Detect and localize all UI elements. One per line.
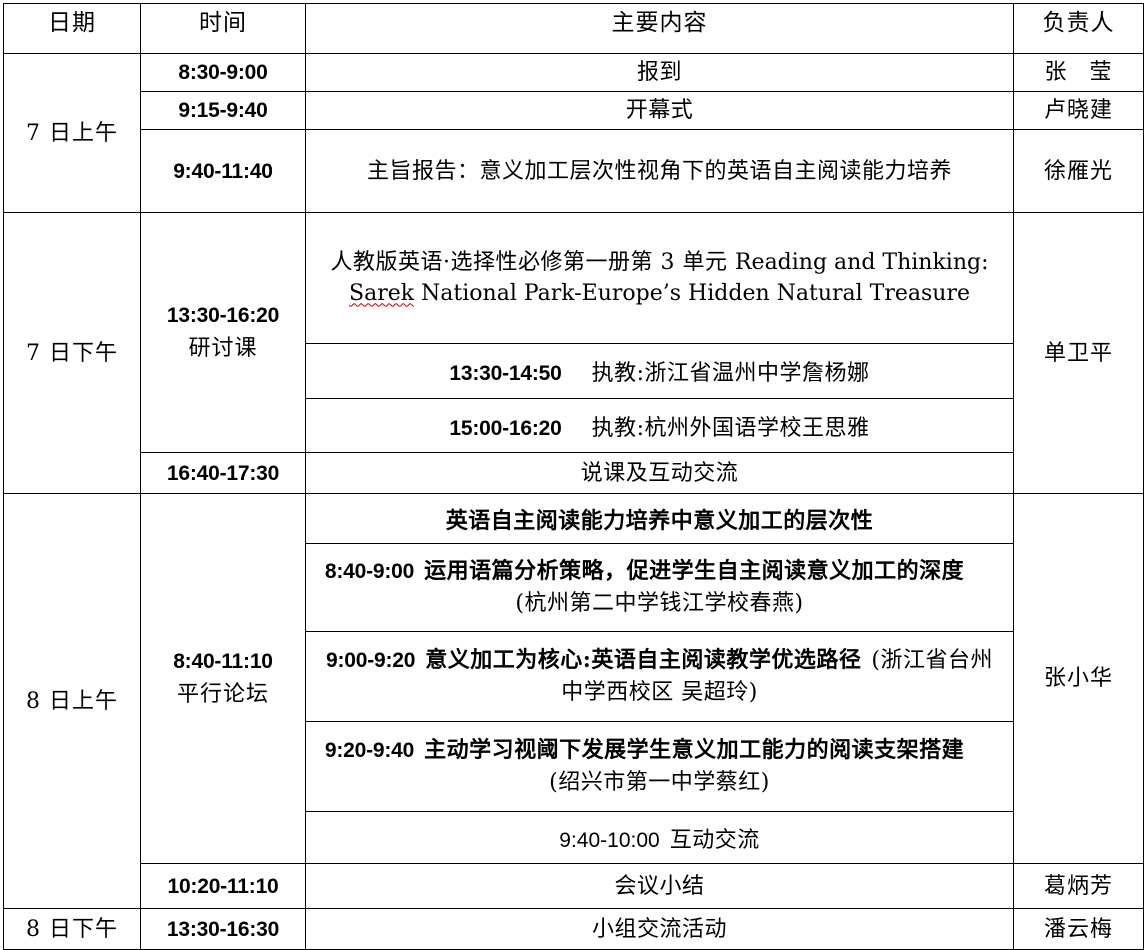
workshop-sub-table: 人教版英语·选择性必修第一册第 3 单元 Reading and Thinkin… (306, 213, 1013, 452)
forum-discussion-cell: 9:40-10:00互动交流 (306, 812, 1013, 864)
owner-cell-zhangying: 张莹 (1014, 54, 1144, 92)
talk2-time: 9:00-9:20 (326, 649, 415, 672)
workshop-title-en-part1: Reading and Thinking: (735, 250, 989, 275)
forum-talk-3: 9:20-9:40主动学习视阈下发展学生意义加工能力的阅读支架搭建(绍兴市第一中… (320, 735, 999, 799)
time-cell-0940: 9:40-11:40 (141, 130, 306, 213)
content-cell-group-activity: 小组交流活动 (306, 909, 1014, 950)
time-cell-1020: 10:20-11:10 (141, 864, 306, 909)
lesson1-text: 执教:浙江省温州中学詹杨娜 (592, 361, 870, 386)
owner-label: 葛炳芳 (1014, 868, 1143, 905)
table-row: 8 日上午 8:40-11:10 平行论坛 英语自主阅读能力培养中意义加工的层次… (4, 494, 1144, 864)
session-date-8pm: 8 日下午 (4, 909, 141, 950)
talk3-title: 主动学习视阈下发展学生意义加工能力的阅读支架搭建 (424, 737, 964, 763)
list-item: 9:20-9:40主动学习视阈下发展学生意义加工能力的阅读支架搭建(绍兴市第一中… (306, 722, 1013, 812)
content-cell-workshop: 人教版英语·选择性必修第一册第 3 单元 Reading and Thinkin… (306, 213, 1014, 453)
lesson2-time: 15:00-16:20 (449, 417, 561, 440)
spellcheck-error-sarek: Sarek (349, 281, 414, 306)
time-cell-0915: 9:15-9:40 (141, 92, 306, 130)
header-label-owner: 负责人 (1014, 4, 1143, 53)
owner-label: 单卫平 (1014, 335, 1143, 372)
list-item: 15:00-16:20执教:杭州外国语学校王思雅 (306, 399, 1013, 453)
workshop-title-en-part2: National Park-Europe’s Hidden Natural Tr… (414, 281, 970, 306)
time-label: 13:30-16:30 (141, 912, 305, 948)
content-cell-keynote: 主旨报告：意义加工层次性视角下的英语自主阅读能力培养 (306, 130, 1014, 213)
table-row: 16:40-17:30 说课及互动交流 (4, 453, 1144, 494)
table-row: 8 日下午 13:30-16:30 小组交流活动 潘云梅 (4, 909, 1144, 950)
workshop-title-cn: 人教版英语·选择性必修第一册第 3 单元 (331, 250, 735, 275)
time-cell-1640: 16:40-17:30 (141, 453, 306, 494)
time-label: 16:40-17:30 (141, 456, 305, 492)
talk2-title: 意义加工为核心:英语自主阅读教学优选路径 (425, 647, 861, 673)
owner-label: 徐雁光 (1014, 153, 1143, 190)
list-item: 人教版英语·选择性必修第一册第 3 单元 Reading and Thinkin… (306, 213, 1013, 344)
session-date-label: 7 日上午 (4, 115, 140, 152)
owner-label: 卢晓建 (1014, 92, 1143, 129)
time-range: 13:30-16:20 (167, 304, 279, 327)
talk3-affiliation: (绍兴市第一中学蔡红) (549, 770, 770, 795)
forum-talk-2-cell: 9:00-9:20意义加工为核心:英语自主阅读教学优选路径(浙江省台州中学西校区… (306, 632, 1013, 722)
content-label: 开幕式 (306, 92, 1013, 129)
header-cell-time: 时间 (141, 4, 306, 54)
owner-surname: 张 (1044, 60, 1067, 85)
content-label: 小组交流活动 (306, 911, 1013, 948)
list-item: 9:40-10:00互动交流 (306, 812, 1013, 864)
table-row: 7 日上午 8:30-9:00 报到 张莹 (4, 54, 1144, 92)
list-item: 9:00-9:20意义加工为核心:英语自主阅读教学优选路径(浙江省台州中学西校区… (306, 632, 1013, 722)
table-row: 9:40-11:40 主旨报告：意义加工层次性视角下的英语自主阅读能力培养 徐雁… (4, 130, 1144, 213)
list-item: 13:30-14:50执教:浙江省温州中学詹杨娜 (306, 344, 1013, 399)
talk1-time: 8:40-9:00 (325, 560, 414, 583)
owner-cell-zhangxiaohua: 张小华 (1014, 494, 1144, 864)
content-label: 会议小结 (306, 868, 1013, 905)
forum-talk-3-cell: 9:20-9:40主动学习视阈下发展学生意义加工能力的阅读支架搭建(绍兴市第一中… (306, 722, 1013, 812)
content-label: 报到 (306, 54, 1013, 91)
table-row: 10:20-11:10 会议小结 葛炳芳 (4, 864, 1144, 909)
table-header-row: 日期 时间 主要内容 负责人 (4, 4, 1144, 54)
content-label: 说课及互动交流 (306, 455, 1013, 492)
time-label: 9:15-9:40 (141, 93, 305, 129)
owner-cell-danweiping: 单卫平 (1014, 213, 1144, 494)
header-cell-content: 主要内容 (306, 4, 1014, 54)
time-label: 9:40-11:40 (141, 154, 305, 190)
time-subtitle: 平行论坛 (145, 679, 301, 710)
content-cell-summary: 会议小结 (306, 864, 1014, 909)
schedule-document: 日期 时间 主要内容 负责人 7 日上午 8:30-9:00 (0, 0, 1147, 907)
time-label: 13:30-16:20 研讨课 (141, 298, 305, 367)
header-cell-owner: 负责人 (1014, 4, 1144, 54)
time-cell-0830: 8:30-9:00 (141, 54, 306, 92)
lesson2-text: 执教:杭州外国语学校王思雅 (592, 416, 870, 441)
session-date-7am: 7 日上午 (4, 54, 141, 213)
conference-schedule-table: 日期 时间 主要内容 负责人 7 日上午 8:30-9:00 (3, 3, 1144, 950)
time-cell-1330-1630: 13:30-16:30 (141, 909, 306, 950)
talk1-title: 运用语篇分析策略，促进学生自主阅读意义加工的深度 (424, 558, 964, 584)
content-label: 主旨报告：意义加工层次性视角下的英语自主阅读能力培养 (306, 154, 1013, 190)
session-date-8am: 8 日上午 (4, 494, 141, 909)
time-label: 8:30-9:00 (141, 55, 305, 91)
forum-title: 英语自主阅读能力培养中意义加工的层次性 (446, 508, 874, 534)
content-cell-opening: 开幕式 (306, 92, 1014, 130)
owner-givenname: 莹 (1090, 60, 1113, 85)
workshop-lesson1-cell: 13:30-14:50执教:浙江省温州中学詹杨娜 (306, 344, 1013, 399)
owner-label: 潘云梅 (1014, 911, 1143, 948)
header-label-content: 主要内容 (306, 4, 1013, 53)
lesson1-time: 13:30-14:50 (449, 362, 561, 385)
session-date-label: 7 日下午 (4, 335, 140, 372)
forum-title-cell: 英语自主阅读能力培养中意义加工的层次性 (306, 494, 1013, 544)
owner-cell-gebingfang: 葛炳芳 (1014, 864, 1144, 909)
session-date-label: 8 日下午 (4, 911, 140, 948)
time-cell-0840-1110: 8:40-11:10 平行论坛 (141, 494, 306, 864)
workshop-lesson2-cell: 15:00-16:20执教:杭州外国语学校王思雅 (306, 399, 1013, 453)
time-range: 8:40-11:10 (173, 650, 273, 673)
time-label: 10:20-11:10 (141, 869, 305, 905)
talk1-affiliation: (杭州第二中学钱江学校春燕) (515, 591, 803, 616)
talk3-time: 9:20-9:40 (325, 739, 414, 762)
table-row: 9:15-9:40 开幕式 卢晓建 (4, 92, 1144, 130)
table-row: 7 日下午 13:30-16:20 研讨课 人教版英语·选择性必修第一册第 3 … (4, 213, 1144, 453)
time-label: 8:40-11:10 平行论坛 (141, 644, 305, 713)
session-date-7pm: 7 日下午 (4, 213, 141, 494)
owner-label: 张小华 (1014, 660, 1143, 697)
owner-cell-xuyanguang: 徐雁光 (1014, 130, 1144, 213)
owner-label: 张莹 (1014, 54, 1143, 91)
list-item: 8:40-9:00运用语篇分析策略，促进学生自主阅读意义加工的深度(杭州第二中学… (306, 544, 1013, 632)
forum-talk-1-cell: 8:40-9:00运用语篇分析策略，促进学生自主阅读意义加工的深度(杭州第二中学… (306, 544, 1013, 632)
owner-cell-luxiaojian: 卢晓建 (1014, 92, 1144, 130)
header-label-date: 日期 (4, 4, 140, 53)
discussion-time: 9:40-10:00 (559, 829, 659, 852)
owner-cell-panyunmei: 潘云梅 (1014, 909, 1144, 950)
forum-talk-2: 9:00-9:20意义加工为核心:英语自主阅读教学优选路径(浙江省台州中学西校区… (320, 645, 999, 709)
header-cell-date: 日期 (4, 4, 141, 54)
forum-talk-1: 8:40-9:00运用语篇分析策略，促进学生自主阅读意义加工的深度(杭州第二中学… (320, 556, 999, 620)
time-subtitle: 研讨课 (145, 333, 301, 364)
workshop-title: 人教版英语·选择性必修第一册第 3 单元 Reading and Thinkin… (322, 247, 997, 311)
time-cell-1330-1620: 13:30-16:20 研讨课 (141, 213, 306, 453)
content-cell-lesson-discussion: 说课及互动交流 (306, 453, 1014, 494)
forum-sub-table: 英语自主阅读能力培养中意义加工的层次性 8:40-9:00运用语篇分析策略，促进… (306, 494, 1013, 863)
session-date-label: 8 日上午 (4, 683, 140, 720)
list-item: 英语自主阅读能力培养中意义加工的层次性 (306, 494, 1013, 544)
workshop-title-cell: 人教版英语·选择性必修第一册第 3 单元 Reading and Thinkin… (306, 213, 1013, 344)
header-label-time: 时间 (141, 4, 305, 53)
content-cell-forum: 英语自主阅读能力培养中意义加工的层次性 8:40-9:00运用语篇分析策略，促进… (306, 494, 1014, 864)
discussion-text: 互动交流 (670, 828, 760, 853)
content-cell-registration: 报到 (306, 54, 1014, 92)
